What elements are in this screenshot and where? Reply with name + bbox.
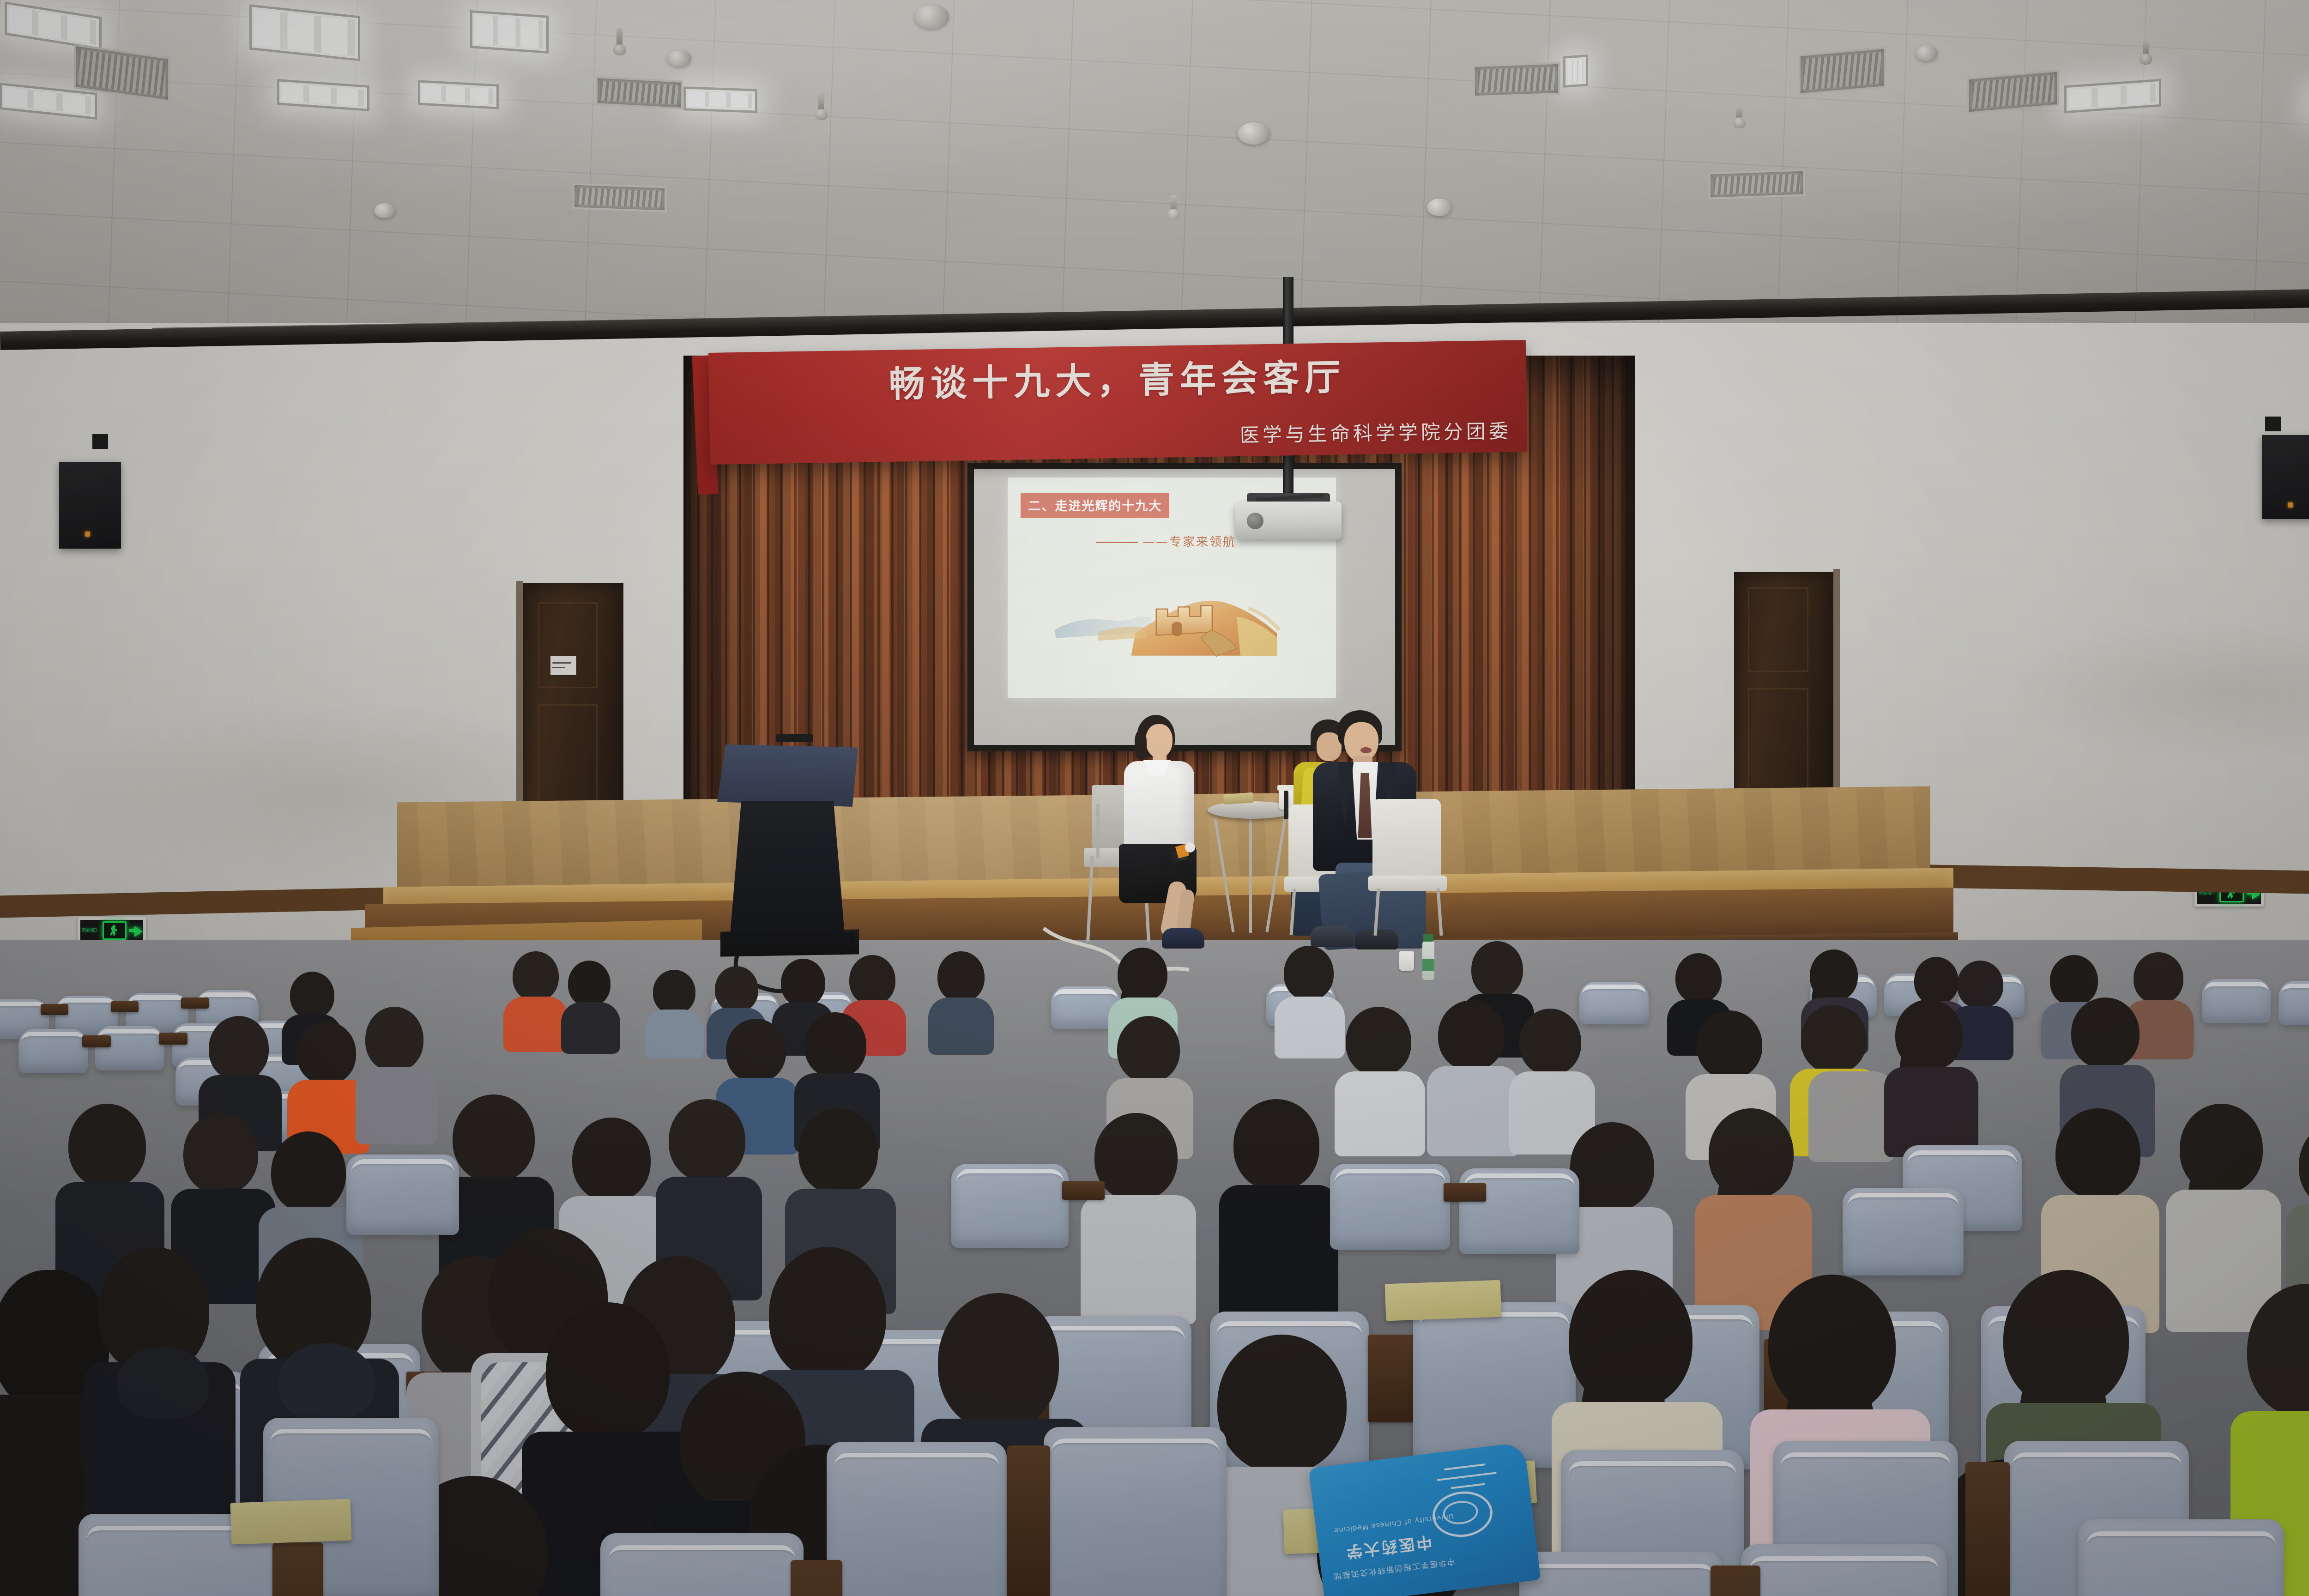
speaker-led-icon xyxy=(2288,502,2293,508)
audience-person xyxy=(1219,1099,1338,1312)
audience-person xyxy=(1081,1113,1196,1316)
slide-subtitle-text: ——专家来领航 xyxy=(1142,535,1236,549)
seat-armrest xyxy=(1965,1462,2010,1596)
seat-armrest xyxy=(41,1004,68,1015)
person-head xyxy=(653,970,695,1014)
person-head xyxy=(1117,1016,1180,1082)
seat-armrest xyxy=(111,1001,139,1012)
smoke-detector-icon xyxy=(667,50,691,66)
host-hair-side xyxy=(1135,731,1147,759)
bottle-label xyxy=(1422,959,1434,971)
seat-armrest xyxy=(181,997,209,1009)
person-head xyxy=(453,1094,535,1182)
person-head xyxy=(2299,1122,2309,1208)
seat[interactable] xyxy=(1330,1164,1450,1250)
speaker-mouth xyxy=(1360,747,1372,753)
ceiling-light-panel xyxy=(418,80,499,109)
sprinkler-head-icon xyxy=(1171,195,1177,212)
slide-subtitle: ——专家来领航 xyxy=(1096,532,1236,550)
smoke-detector-icon xyxy=(374,203,395,218)
smoke-detector-icon xyxy=(1916,45,1938,61)
paper-cup xyxy=(1399,951,1414,971)
bottle-cap xyxy=(1423,934,1433,942)
person-head xyxy=(669,1099,745,1181)
person-head xyxy=(1217,1335,1347,1473)
ceiling-ac-vent xyxy=(1709,169,1805,199)
person-hood xyxy=(278,1343,375,1420)
seat-armrest xyxy=(1007,1445,1050,1596)
ceiling-light-panel xyxy=(683,86,757,113)
person-head xyxy=(938,1293,1059,1431)
audience-person xyxy=(928,951,994,1049)
seat-armrest xyxy=(159,1033,187,1045)
ceiling-ac-vent xyxy=(596,76,683,109)
smoke-detector-icon xyxy=(1427,199,1452,216)
audience-person xyxy=(503,951,568,1048)
smoke-detector-icon xyxy=(914,5,949,29)
person-head xyxy=(271,1131,346,1213)
person-head xyxy=(1233,1099,1319,1191)
slide-title: 二、走进光辉的十九大 xyxy=(1021,493,1169,518)
person-head xyxy=(68,1104,146,1188)
wall-speaker-right xyxy=(2262,435,2309,519)
person-head xyxy=(290,972,334,1019)
person-head xyxy=(568,961,610,1007)
seat[interactable] xyxy=(2279,981,2309,1025)
person-torso xyxy=(1884,1067,1978,1157)
person-torso xyxy=(1808,1071,1894,1162)
person-hood xyxy=(117,1347,209,1419)
person-head xyxy=(2247,1284,2309,1418)
person-head xyxy=(1519,1009,1581,1075)
banner-subtitle: 医学与生命科学学院分团委 xyxy=(1239,416,1511,448)
person-head xyxy=(798,1108,878,1194)
person-head xyxy=(209,1016,269,1081)
seat[interactable] xyxy=(18,1029,88,1073)
person-torso xyxy=(645,1010,704,1058)
seat[interactable] xyxy=(827,1442,1007,1596)
person-head xyxy=(1438,1000,1505,1070)
person-head xyxy=(726,1019,786,1082)
audience-person xyxy=(1808,1022,1894,1159)
person-head xyxy=(1471,941,1523,997)
seat-armrest xyxy=(1444,1183,1486,1202)
audience-person xyxy=(645,970,704,1053)
seat[interactable] xyxy=(1044,1427,1227,1596)
great-wall-artwork xyxy=(1050,566,1293,667)
seat[interactable] xyxy=(95,1026,164,1070)
person-head xyxy=(769,1247,886,1382)
audience-person xyxy=(561,961,620,1048)
stage-chair-white-right[interactable] xyxy=(1372,799,1441,880)
seat-armrest xyxy=(1062,1181,1105,1200)
speaker-bracket xyxy=(2265,417,2281,431)
tote-chinese-text: 中医药大学 xyxy=(1344,1531,1434,1565)
seat[interactable] xyxy=(1519,1552,1723,1596)
seat-armrest xyxy=(1711,1566,1760,1596)
person-torso xyxy=(1427,1066,1519,1156)
person-head xyxy=(781,959,825,1007)
person-head xyxy=(849,955,895,1005)
host-face xyxy=(1146,724,1173,758)
ceiling-ac-vent xyxy=(1799,47,1886,95)
person-head xyxy=(1697,1010,1762,1079)
audience-person xyxy=(1427,1000,1519,1148)
seat[interactable] xyxy=(951,1164,1069,1248)
seat-writing-tablet[interactable] xyxy=(230,1499,352,1544)
person-head xyxy=(2055,1108,2140,1199)
person-head xyxy=(183,1113,258,1194)
person-head xyxy=(1094,1113,1178,1201)
person-head xyxy=(804,1012,866,1078)
sprinkler-head-icon xyxy=(818,93,824,113)
seat[interactable] xyxy=(1741,1544,1947,1596)
audience-seating-area: 中医药大学 University of Chinese Medicine 中华医… xyxy=(0,905,2309,1596)
person-head xyxy=(297,1022,356,1084)
speaker-bracket xyxy=(92,434,108,449)
seat-writing-tablet[interactable] xyxy=(1385,1280,1502,1321)
person-head xyxy=(365,1007,423,1071)
seat[interactable] xyxy=(346,1155,459,1235)
seat[interactable] xyxy=(1459,1168,1579,1254)
person-torso xyxy=(503,997,568,1052)
ceiling-light-panel xyxy=(1563,54,1588,88)
door-sign xyxy=(550,656,576,675)
person-torso xyxy=(928,997,994,1055)
projector-lens-icon xyxy=(1247,513,1263,529)
wall-speaker-left xyxy=(59,462,121,549)
podium-microphone xyxy=(776,734,813,742)
event-banner: 畅谈十九大，青年会客厅 医学与生命科学学院分团委 xyxy=(708,340,1528,465)
tote-bag[interactable]: 中医药大学 University of Chinese Medicine 中华医… xyxy=(1308,1442,1541,1596)
person-head xyxy=(1284,946,1334,1000)
person-torso xyxy=(561,1002,620,1054)
sprinkler-head-icon xyxy=(1736,106,1742,121)
person-head xyxy=(572,1118,651,1202)
ceiling-ac-vent xyxy=(573,183,666,212)
person-torso xyxy=(1081,1195,1196,1324)
person-head xyxy=(937,951,985,1002)
audience-person xyxy=(356,1007,437,1141)
podium-top xyxy=(717,744,858,807)
smoke-detector-icon xyxy=(1238,122,1270,145)
table-notebook xyxy=(1223,792,1253,804)
seat-armrest xyxy=(82,1035,111,1047)
person-head xyxy=(513,951,559,1001)
person-torso xyxy=(356,1067,437,1144)
seat-armrest xyxy=(791,1560,842,1596)
person-head xyxy=(2134,952,2183,1004)
seat[interactable] xyxy=(1843,1188,1964,1276)
person-torso xyxy=(1335,1071,1425,1156)
seat-armrest xyxy=(272,1542,323,1596)
seat[interactable] xyxy=(2078,1519,2284,1596)
audience-person xyxy=(1335,1007,1425,1148)
seat[interactable] xyxy=(600,1533,804,1596)
person-head xyxy=(715,966,758,1012)
person-head xyxy=(1346,1007,1411,1076)
speaker-led-icon xyxy=(85,532,90,537)
sprinkler-head-icon xyxy=(2143,41,2149,57)
person-torso xyxy=(1219,1185,1338,1320)
lecture-hall-photo: 二、走进光辉的十九大 ——专家来领航 xyxy=(0,0,2309,1596)
ceiling-ac-vent xyxy=(1473,62,1560,98)
seat[interactable] xyxy=(2202,979,2271,1023)
audience-person xyxy=(1884,999,1978,1150)
sprinkler-head-icon xyxy=(617,28,623,48)
ceiling-light-panel xyxy=(470,10,549,54)
person-head xyxy=(2071,997,2140,1069)
person-head xyxy=(1675,953,1722,1003)
